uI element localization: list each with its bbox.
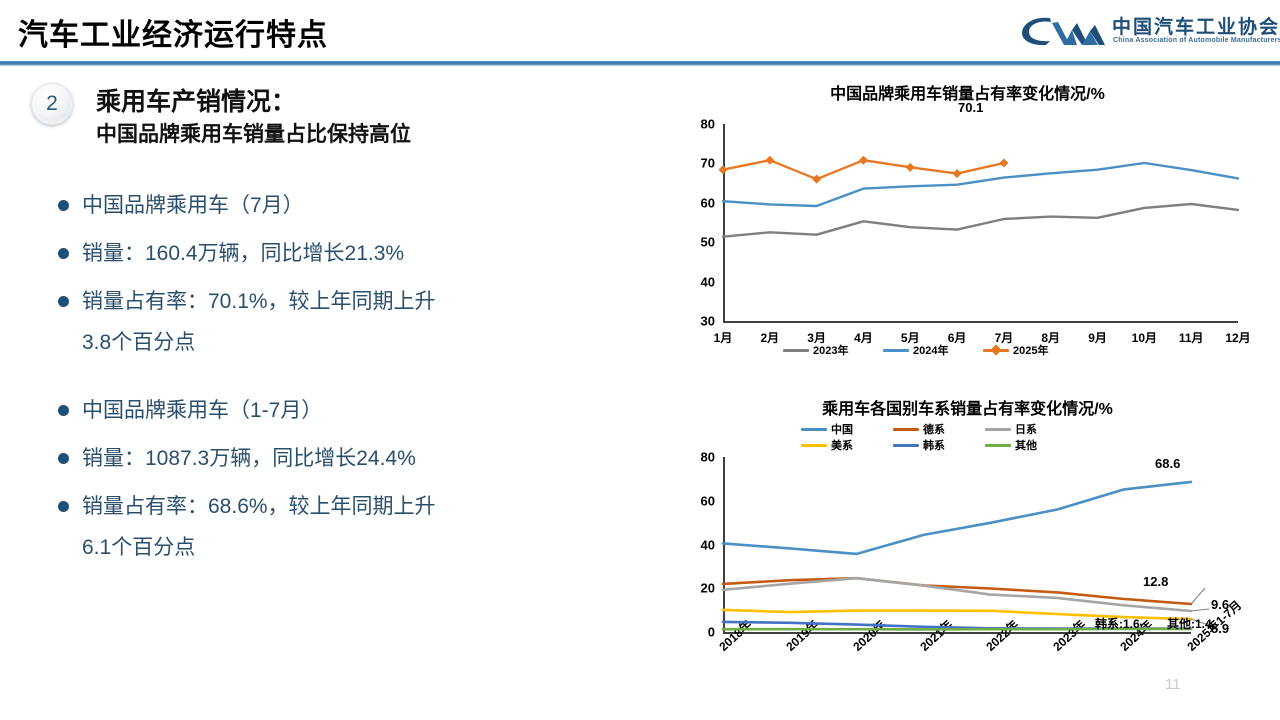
- series-marker: [906, 163, 915, 172]
- list-item: 销量：160.4万辆，同比增长21.3%: [58, 239, 628, 268]
- section-number: 2: [32, 84, 72, 124]
- section-number-badge: 2: [31, 83, 73, 125]
- series-line: [723, 578, 1191, 611]
- list-item: 销量占有率：70.1%，较上年同期上升: [58, 287, 628, 316]
- series-marker: [812, 175, 821, 184]
- legend-item: 韩系: [893, 437, 945, 453]
- chart-plot-area: 3040506070801月2月3月4月5月6月7月8月9月10月11月12月2…: [655, 80, 1280, 370]
- legend-item: 其他: [985, 437, 1037, 453]
- bullet-dot-icon: [58, 248, 69, 259]
- legend-label: 2025年: [1013, 342, 1048, 358]
- data-label: 其他:1.4: [1167, 615, 1212, 632]
- slide-header: 汽车工业经济运行特点 中国汽车工业协会 China Association of…: [0, 0, 1280, 64]
- legend-item: 美系: [801, 437, 853, 453]
- chart-brand-origin-share: 乘用车各国别车系销量占有率变化情况/% 0204060802018年2019年2…: [655, 395, 1280, 695]
- chart-series-layer: [655, 395, 1280, 695]
- bullet-dot-icon: [58, 296, 69, 307]
- chart-series-layer: [655, 80, 1280, 370]
- series-marker: [718, 165, 727, 174]
- series-marker: [859, 156, 868, 165]
- legend-item: 2025年: [983, 342, 1048, 358]
- legend-swatch: [985, 428, 1011, 431]
- list-item-text: 中国品牌乘用车（1-7月）: [82, 396, 322, 425]
- bullet-dot-icon: [58, 200, 69, 211]
- content-panel: 2 乘用车产销情况： 中国品牌乘用车销量占比保持高位 中国品牌乘用车（7月） 销…: [0, 66, 640, 720]
- legend-swatch: [801, 444, 827, 447]
- data-label: 68.6: [1155, 456, 1180, 471]
- legend-label: 2024年: [913, 342, 948, 358]
- list-item: 销量占有率：68.6%，较上年同期上升: [58, 492, 628, 521]
- list-item-text: 销量：160.4万辆，同比增长21.3%: [82, 239, 404, 268]
- list-item-continuation: 6.1个百分点: [82, 533, 642, 562]
- list-item-text: 3.8个百分点: [82, 331, 195, 354]
- data-label: 70.1: [958, 100, 983, 115]
- list-item-continuation: 3.8个百分点: [82, 328, 642, 357]
- legend-label: 其他: [1015, 437, 1037, 453]
- series-marker: [999, 158, 1008, 167]
- legend-swatch: [801, 428, 827, 431]
- data-label: 5.9: [1211, 621, 1229, 636]
- page-number: 11: [1165, 676, 1181, 693]
- section-heading: 乘用车产销情况：: [96, 82, 296, 118]
- legend-swatch: [783, 349, 809, 352]
- list-item-text: 中国品牌乘用车（7月）: [82, 191, 304, 220]
- legend-swatch: [883, 349, 909, 352]
- list-item: 中国品牌乘用车（1-7月）: [58, 396, 628, 425]
- cam-logo-icon: [1020, 14, 1106, 48]
- chart-china-brand-share: 中国品牌乘用车销量占有率变化情况/% 3040506070801月2月3月4月5…: [655, 80, 1280, 370]
- series-line: [723, 482, 1191, 554]
- legend-swatch: [985, 444, 1011, 447]
- legend-label: 美系: [831, 437, 853, 453]
- bullet-dot-icon: [58, 501, 69, 512]
- legend-label: 日系: [1015, 421, 1037, 437]
- legend-item: 2023年: [783, 342, 848, 358]
- list-item: 销量：1087.3万辆，同比增长24.4%: [58, 444, 628, 473]
- organization-logo: 中国汽车工业协会 China Association of Automobile…: [1020, 8, 1272, 56]
- logo-english-name: China Association of Automobile Manufact…: [1113, 37, 1280, 44]
- list-item-text: 销量占有率：68.6%，较上年同期上升: [82, 492, 436, 521]
- legend-item: 德系: [893, 421, 945, 437]
- series-line: [723, 204, 1238, 237]
- legend-label: 中国: [831, 421, 853, 437]
- legend-label: 韩系: [923, 437, 945, 453]
- legend-swatch: [983, 349, 1009, 352]
- logo-chinese-name: 中国汽车工业协会: [1112, 12, 1280, 39]
- legend-item: 日系: [985, 421, 1037, 437]
- legend-label: 2023年: [813, 342, 848, 358]
- list-item-text: 销量：1087.3万辆，同比增长24.4%: [82, 444, 416, 473]
- data-label: 韩系:1.6: [1095, 615, 1140, 632]
- series-marker: [765, 156, 774, 165]
- legend-item: 中国: [801, 421, 853, 437]
- list-item-text: 6.1个百分点: [82, 536, 195, 559]
- chart-plot-area: 0204060802018年2019年2020年2021年2022年2023年2…: [655, 395, 1280, 695]
- bullet-dot-icon: [58, 405, 69, 416]
- series-marker: [953, 169, 962, 178]
- list-item-text: 销量占有率：70.1%，较上年同期上升: [82, 287, 436, 316]
- legend-swatch: [893, 444, 919, 447]
- data-label: 12.8: [1143, 574, 1168, 589]
- list-item: 中国品牌乘用车（7月）: [58, 191, 628, 220]
- legend-swatch: [893, 428, 919, 431]
- legend-item: 2024年: [883, 342, 948, 358]
- data-label: 9.6: [1211, 597, 1229, 612]
- legend-label: 德系: [923, 421, 945, 437]
- section-subheading: 中国品牌乘用车销量占比保持高位: [96, 118, 411, 148]
- page-title: 汽车工业经济运行特点: [18, 10, 328, 54]
- annotation-leader-line: [1191, 609, 1209, 611]
- bullet-dot-icon: [58, 453, 69, 464]
- annotation-leader-line: [1191, 588, 1205, 604]
